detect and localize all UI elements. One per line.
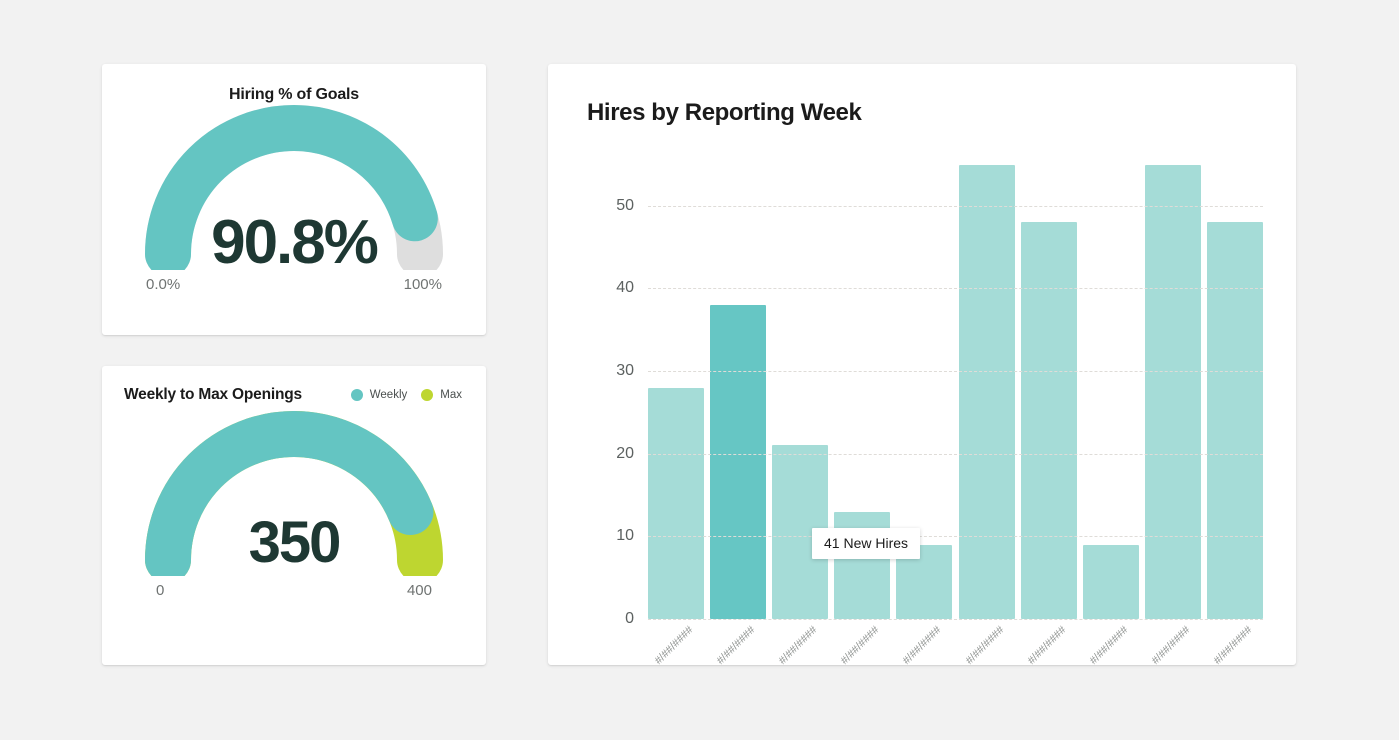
dashboard-canvas: Hiring % of Goals 90.8% 0.0% 100% Weekly… [0, 0, 1399, 740]
bar[interactable] [1207, 222, 1263, 619]
legend-label-max: Max [440, 389, 462, 401]
gridline [648, 371, 1263, 372]
bar-slot[interactable]: #/##/#### [648, 148, 704, 619]
x-axis-tick-label: #/##/#### [963, 624, 1006, 667]
legend-label-weekly: Weekly [370, 389, 408, 401]
y-axis-tick-label: 20 [616, 445, 634, 463]
bar[interactable] [834, 512, 890, 619]
x-axis-tick-label: #/##/#### [901, 624, 944, 667]
legend-dot-max-icon [421, 389, 433, 401]
x-axis-tick-label: #/##/#### [715, 624, 758, 667]
y-axis-tick-label: 30 [616, 362, 634, 380]
bar-slot[interactable]: #/##/#### [1083, 148, 1139, 619]
bar[interactable] [959, 165, 1015, 619]
x-axis-tick-label: #/##/#### [777, 624, 820, 667]
x-axis-tick-label: #/##/#### [1025, 624, 1068, 667]
gridline [648, 206, 1263, 207]
x-axis-tick-label: #/##/#### [1087, 624, 1130, 667]
x-axis-tick-label: #/##/#### [1149, 624, 1192, 667]
bar-slot[interactable]: #/##/#### [1145, 148, 1201, 619]
weekly-openings-value: 350 [102, 514, 486, 572]
hiring-gauge-min-label: 0.0% [146, 276, 180, 293]
legend-item-max[interactable]: Max [421, 389, 462, 401]
y-axis-tick-label: 40 [616, 279, 634, 297]
hires-chart-bars: #/##/#####/##/#####/##/#####/##/#####/##… [648, 148, 1263, 619]
weekly-openings-header: Weekly to Max Openings Weekly Max [102, 366, 486, 404]
bar[interactable] [1021, 222, 1077, 619]
hiring-goals-value: 90.8% [102, 212, 486, 274]
hiring-gauge-axis: 0.0% 100% [146, 276, 442, 298]
y-axis-tick-label: 50 [616, 197, 634, 215]
bar-slot[interactable]: #/##/#### [959, 148, 1015, 619]
x-axis-tick-label: #/##/#### [839, 624, 882, 667]
y-axis-tick-label: 0 [625, 610, 634, 628]
hiring-goals-title: Hiring % of Goals [102, 64, 486, 104]
bar[interactable] [772, 445, 828, 619]
hires-chart-area: #/##/#####/##/#####/##/#####/##/#####/##… [548, 64, 1296, 665]
weekly-openings-gauge: 350 [102, 410, 486, 576]
hiring-goals-gauge: 90.8% [102, 104, 486, 270]
bar-slot[interactable]: #/##/#### [896, 148, 952, 619]
bar-slot[interactable]: #/##/#### [834, 148, 890, 619]
weekly-openings-legend: Weekly Max [351, 389, 462, 401]
gridline [648, 619, 1263, 620]
gridline [648, 454, 1263, 455]
y-axis-tick-label: 10 [616, 527, 634, 545]
bar[interactable] [710, 305, 766, 619]
bar-slot[interactable]: #/##/#### [772, 148, 828, 619]
bar[interactable] [1083, 545, 1139, 619]
hires-chart-title: Hires by Reporting Week [548, 64, 1296, 127]
bar-slot[interactable]: #/##/#### [1021, 148, 1077, 619]
weekly-openings-card: Weekly to Max Openings Weekly Max 350 0 [102, 366, 486, 665]
bar[interactable] [1145, 165, 1201, 619]
bar[interactable] [648, 388, 704, 619]
hiring-gauge-max-label: 100% [404, 276, 442, 293]
bar-slot[interactable]: #/##/#### [1207, 148, 1263, 619]
x-axis-tick-label: #/##/#### [1211, 624, 1254, 667]
hires-by-week-card: Hires by Reporting Week #/##/#####/##/##… [548, 64, 1296, 665]
weekly-gauge-max-label: 400 [407, 582, 432, 599]
weekly-gauge-axis: 0 400 [156, 582, 432, 604]
hires-chart-plot: #/##/#####/##/#####/##/#####/##/#####/##… [648, 148, 1263, 619]
bar[interactable] [896, 545, 952, 619]
chart-tooltip: 41 New Hires [812, 528, 920, 559]
bar-slot[interactable]: #/##/#### [710, 148, 766, 619]
gridline [648, 536, 1263, 537]
gridline [648, 288, 1263, 289]
legend-dot-weekly-icon [351, 389, 363, 401]
x-axis-tick-label: #/##/#### [652, 624, 695, 667]
weekly-openings-title: Weekly to Max Openings [124, 386, 302, 404]
hiring-goals-card: Hiring % of Goals 90.8% 0.0% 100% [102, 64, 486, 335]
weekly-gauge-min-label: 0 [156, 582, 164, 599]
legend-item-weekly[interactable]: Weekly [351, 389, 408, 401]
